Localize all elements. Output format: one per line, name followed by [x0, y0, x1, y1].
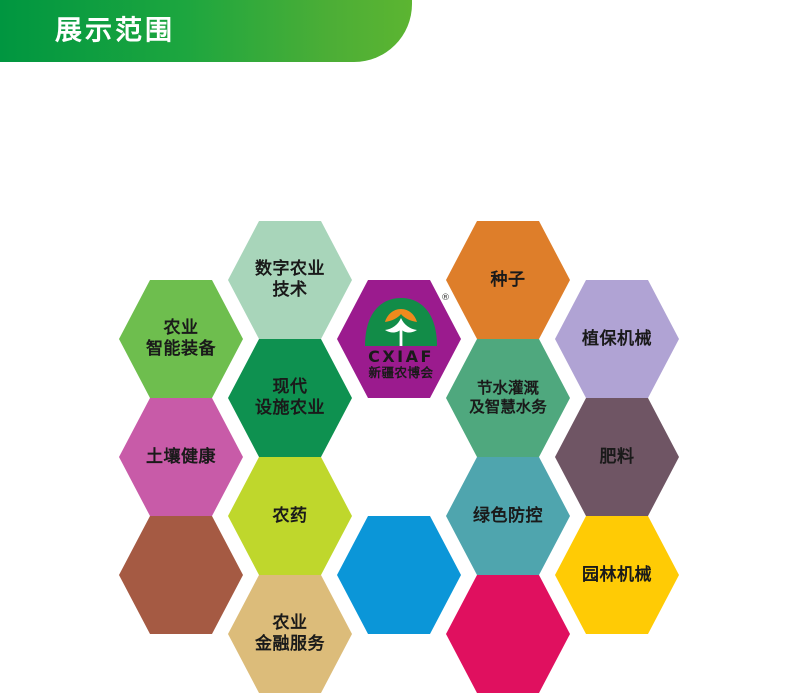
hex-green-control[interactable]: 绿色防控 [446, 457, 570, 575]
hex-agri-smart-equipment[interactable]: 农业 智能装备 [119, 280, 243, 398]
hex-garden-machinery-label: 园林机械 [576, 565, 658, 586]
logo-chinese-name: 新疆农博会 [368, 367, 433, 380]
hex-garden-machinery[interactable]: 园林机械 [555, 516, 679, 634]
hex-digital-agri-tech-label: 数字农业 技术 [249, 259, 331, 300]
hex-soil-health-label: 土壤健康 [140, 447, 222, 468]
hex-soil-health[interactable]: 土壤健康 [119, 398, 243, 516]
hex-fertilizer-label: 肥料 [594, 447, 641, 468]
hex-water-saving[interactable]: 节水灌溉 及智慧水务 [446, 339, 570, 457]
logo-acronym: CXIAF [368, 349, 434, 365]
hex-modern-facility-agri-label: 现代 设施农业 [249, 377, 331, 418]
hex-blank-blue[interactable] [337, 516, 461, 634]
hex-blank-brown[interactable] [119, 516, 243, 634]
honeycomb-diagram: 农业 智能装备土壤健康数字农业 技术现代 设施农业农药农业 金融服务种子节水灌溉… [0, 62, 800, 650]
cxiaf-logo: ® CXIAF 新疆农博会 [345, 298, 457, 410]
hex-plant-protection-machinery-label: 植保机械 [576, 329, 658, 350]
hex-agri-smart-equipment-label: 农业 智能装备 [140, 318, 222, 359]
hex-pesticide-label: 农药 [267, 506, 314, 527]
hex-seed[interactable]: 种子 [446, 221, 570, 339]
hex-seed-label: 种子 [485, 270, 532, 291]
header-banner: 展示范围 [0, 0, 412, 62]
hex-modern-facility-agri[interactable]: 现代 设施农业 [228, 339, 352, 457]
hex-fertilizer[interactable]: 肥料 [555, 398, 679, 516]
hex-plant-protection-machinery[interactable]: 植保机械 [555, 280, 679, 398]
hex-digital-agri-tech[interactable]: 数字农业 技术 [228, 221, 352, 339]
registered-trademark-icon: ® [441, 293, 450, 303]
hex-agri-finance[interactable]: 农业 金融服务 [228, 575, 352, 693]
hex-water-saving-label: 节水灌溉 及智慧水务 [463, 379, 553, 417]
page-title: 展示范围 [55, 18, 175, 45]
hex-blank-crimson[interactable] [446, 575, 570, 693]
hex-green-control-label: 绿色防控 [467, 506, 549, 527]
hex-pesticide[interactable]: 农药 [228, 457, 352, 575]
logo-sprout-icon: ® [365, 298, 437, 346]
hex-agri-finance-label: 农业 金融服务 [249, 613, 331, 654]
